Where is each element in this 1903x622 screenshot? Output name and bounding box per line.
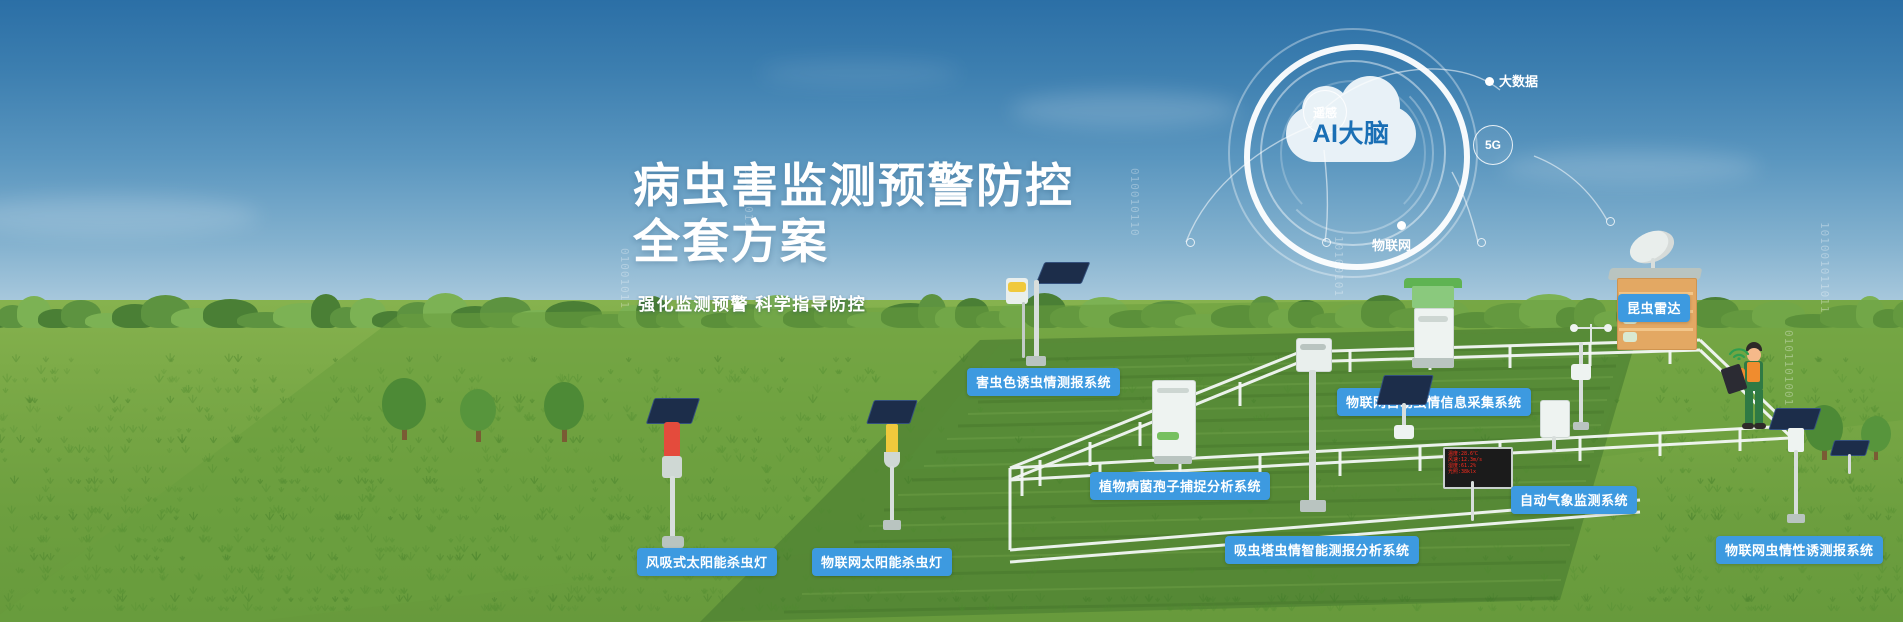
ladder-rail [1022,302,1025,358]
collector-panel [1418,316,1448,322]
controller-box [1394,425,1414,439]
lamp-pole [890,466,894,522]
farmer-with-tablet [1720,338,1790,438]
pheromone-trap [1788,428,1804,452]
support-pole [1034,280,1039,358]
binary-decor: 101001011011 [1818,222,1830,313]
lamp-housing [664,422,680,458]
solar-panel [866,400,918,424]
lamp-base [883,520,901,530]
cabinet-leg [1552,436,1556,452]
sensor-pole [1848,454,1851,474]
device-weather-cabinet[interactable] [1540,400,1580,460]
led-display-board[interactable]: 温度:28.6℃ 风速:12.3m/s 湿度:61.2% 光照:38klx [1443,447,1513,489]
collector-head [1412,286,1454,308]
device-iot-solar-insecticidal-lamp[interactable] [862,400,932,540]
lamp-base [662,536,684,548]
cloud-wisp [760,60,960,86]
device-ground-sensor[interactable] [1832,440,1882,480]
callout-auto-weather-station[interactable]: 自动气象监测系统 [1511,486,1637,514]
trap-base [1787,514,1805,523]
trap-pole [1794,450,1798,516]
lamp-collector [662,456,682,478]
vest [1747,362,1760,382]
device-wind-suction-solar-lamp[interactable] [640,398,710,558]
cabinet-vent [1157,388,1189,393]
lamp-tube [886,424,898,454]
leg [1745,390,1753,424]
shoe [1742,423,1754,429]
device-spore-capture-system[interactable] [1152,380,1212,480]
shoe [1754,423,1766,429]
cabinet-display [1157,432,1179,440]
solar-panel [646,398,700,424]
tower-pole [1309,370,1316,502]
device-weather-solar-panel[interactable] [1380,375,1440,445]
wifi-signal-icon [1726,340,1752,360]
callout-iot-solar-insecticidal-lamp[interactable]: 物联网太阳能杀虫灯 [812,548,952,576]
building-window [1623,332,1637,342]
ai-core-label: AI大脑 [1286,114,1416,150]
tower-vent [1300,344,1326,350]
cabinet-base [1154,456,1192,464]
callout-wind-suction-solar-lamp[interactable]: 风吸式太阳能杀虫灯 [637,548,777,576]
binary-decor: 01001011 [618,248,630,309]
callout-spore-capture-system[interactable]: 植物病菌孢子捕捉分析系统 [1090,472,1270,500]
page-subtitle: 强化监测预警 科学指导防控 [638,290,866,315]
page-title: 病虫害监测预警防控 全套方案 [633,158,1074,270]
title-line-1: 病虫害监测预警防控 [633,158,1074,214]
leg [1755,390,1763,424]
solar-panel [1376,375,1433,405]
callout-iot-pheromone-system[interactable]: 物联网虫情性诱测报系统 [1716,536,1883,564]
poster-canvas: 0100101101 01001011 010010110 1010010110… [0,0,1903,622]
callout-suction-tower-system[interactable]: 吸虫塔虫情智能测报分析系统 [1225,536,1419,564]
callout-insect-radar[interactable]: 昆虫雷达 [1618,294,1690,322]
callout-pest-color-lure-system[interactable]: 害虫色诱虫情测报系统 [967,368,1120,396]
led-line: 光照:38klx [1448,469,1508,475]
led-board-pole [1471,481,1474,521]
device-suction-tower-system[interactable] [1290,338,1350,528]
collector-base [1412,358,1454,368]
tower-base [1300,500,1326,512]
trap-lure-panel [1008,282,1026,292]
cabinet [1540,400,1570,438]
sensor-box [1571,364,1591,380]
building-floor-band [1619,328,1693,331]
lamp-pole [670,476,675,538]
device-base [1026,356,1046,366]
solar-panel [1036,262,1091,284]
device-pest-color-lure-system[interactable] [1000,262,1090,372]
